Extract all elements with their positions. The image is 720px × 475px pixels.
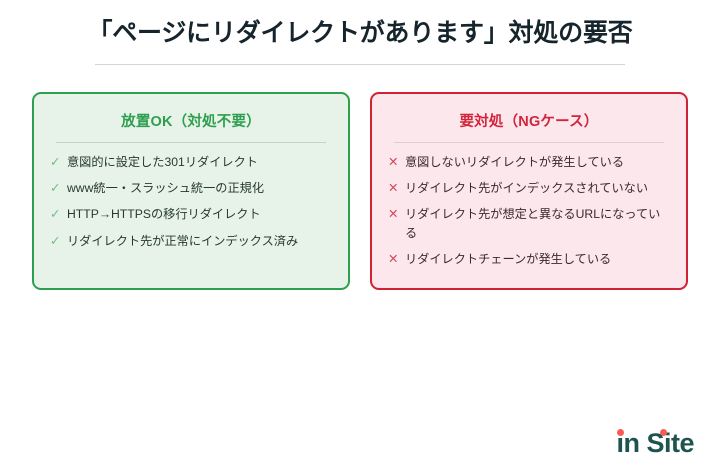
- brand-logo: in Site: [616, 430, 694, 457]
- list-item-label: HTTP→HTTPSの移行リダイレクト: [67, 205, 332, 224]
- card-ok-divider: [56, 142, 326, 143]
- page-title: 「ページにリダイレクトがあります」対処の要否: [60, 16, 660, 51]
- list-item-label: リダイレクト先がインデックスされていない: [405, 179, 670, 198]
- title-divider: [95, 64, 625, 65]
- list-item: ✓ 意図的に設定した301リダイレクト: [50, 153, 332, 172]
- cross-icon: ✕: [388, 153, 405, 172]
- cross-icon: ✕: [388, 179, 405, 198]
- comparison-cards: 放置OK（対処不要） ✓ 意図的に設定した301リダイレクト ✓ www統一・ス…: [32, 92, 688, 290]
- list-item: ✕ リダイレクトチェーンが発生している: [388, 250, 670, 269]
- title-block: 「ページにリダイレクトがあります」対処の要否: [0, 0, 720, 65]
- card-ng-list: ✕ 意図しないリダイレクトが発生している ✕ リダイレクト先がインデックスされて…: [388, 153, 670, 270]
- logo-text-in: in: [616, 430, 639, 457]
- check-icon: ✓: [50, 153, 67, 172]
- list-item: ✕ 意図しないリダイレクトが発生している: [388, 153, 670, 172]
- list-item-label: www統一・スラッシュ統一の正規化: [67, 179, 332, 198]
- card-ok: 放置OK（対処不要） ✓ 意図的に設定した301リダイレクト ✓ www統一・ス…: [32, 92, 350, 290]
- list-item: ✓ リダイレクト先が正常にインデックス済み: [50, 232, 332, 251]
- slide-root: 「ページにリダイレクトがあります」対処の要否 放置OK（対処不要） ✓ 意図的に…: [0, 0, 720, 475]
- list-item: ✓ www統一・スラッシュ統一の正規化: [50, 179, 332, 198]
- card-ok-list: ✓ 意図的に設定した301リダイレクト ✓ www統一・スラッシュ統一の正規化 …: [50, 153, 332, 252]
- check-icon: ✓: [50, 179, 67, 198]
- cross-icon: ✕: [388, 250, 405, 269]
- list-item-label: 意図しないリダイレクトが発生している: [405, 153, 670, 172]
- list-item-label: リダイレクトチェーンが発生している: [405, 250, 670, 269]
- card-ok-title: 放置OK（対処不要）: [50, 110, 332, 131]
- list-item-label: 意図的に設定した301リダイレクト: [67, 153, 332, 172]
- list-item-label: リダイレクト先が想定と異なるURLになっている: [405, 205, 670, 243]
- list-item-label: リダイレクト先が正常にインデックス済み: [67, 232, 332, 251]
- check-icon: ✓: [50, 205, 67, 224]
- card-ng-divider: [394, 142, 664, 143]
- card-ng: 要対処（NGケース） ✕ 意図しないリダイレクトが発生している ✕ リダイレクト…: [370, 92, 688, 290]
- list-item: ✕ リダイレクト先がインデックスされていない: [388, 179, 670, 198]
- card-ng-title: 要対処（NGケース）: [388, 110, 670, 131]
- check-icon: ✓: [50, 232, 67, 251]
- logo-site-label: Site: [646, 428, 694, 458]
- logo-text-site: Site: [646, 430, 694, 457]
- list-item: ✓ HTTP→HTTPSの移行リダイレクト: [50, 205, 332, 224]
- list-item: ✕ リダイレクト先が想定と異なるURLになっている: [388, 205, 670, 243]
- cross-icon: ✕: [388, 205, 405, 224]
